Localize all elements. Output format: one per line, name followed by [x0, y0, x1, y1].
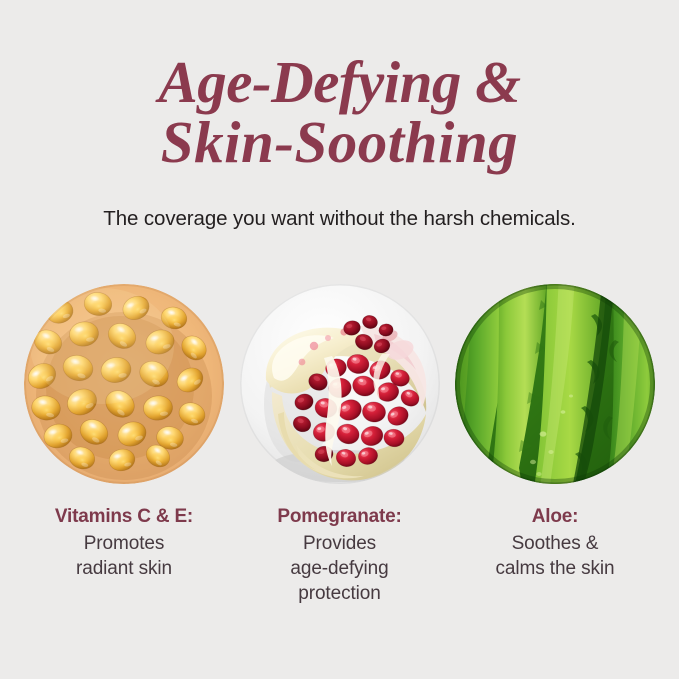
- ingredient-caption: Aloe: Soothes & calms the skin: [448, 505, 663, 581]
- ingredient-description: Soothes & calms the skin: [448, 531, 663, 581]
- ingredient-description-line: age-defying: [232, 556, 447, 581]
- ingredient-description: Provides age-defying protection: [232, 531, 447, 606]
- ingredient-title: Pomegranate:: [232, 505, 447, 529]
- page-title-line-2: Skin-Soothing: [0, 112, 679, 172]
- page-subtitle: The coverage you want without the harsh …: [0, 207, 679, 231]
- promo-panel: Age-Defying & Skin-Soothing The coverage…: [0, 0, 679, 679]
- ingredient-caption: Vitamins C & E: Promotes radiant skin: [17, 505, 232, 581]
- open-pomegranate-photo: [240, 284, 440, 484]
- ingredient-description-line: Provides: [232, 531, 447, 556]
- page-title: Age-Defying & Skin-Soothing: [0, 52, 679, 172]
- vitamin-softgel-capsules-photo: [24, 284, 224, 484]
- page-title-line-1: Age-Defying &: [0, 52, 679, 112]
- ingredient-title: Vitamins C & E:: [17, 505, 232, 529]
- ingredient-list: Vitamins C & E: Promotes radiant skin: [0, 284, 679, 606]
- ingredient-description-line: Promotes: [17, 531, 232, 556]
- ingredient-description-line: calms the skin: [448, 556, 663, 581]
- ingredient-description-line: radiant skin: [17, 556, 232, 581]
- ingredient-description-line: Soothes &: [448, 531, 663, 556]
- ingredient-title: Aloe:: [448, 505, 663, 529]
- ingredient-item-aloe: Aloe: Soothes & calms the skin: [455, 284, 655, 606]
- ingredient-description-line: protection: [232, 581, 447, 606]
- ingredient-item-pomegranate: Pomegranate: Provides age-defying protec…: [240, 284, 440, 606]
- aloe-vera-leaves-photo: [455, 284, 655, 484]
- ingredient-description: Promotes radiant skin: [17, 531, 232, 581]
- ingredient-item-vitamins: Vitamins C & E: Promotes radiant skin: [24, 284, 224, 606]
- ingredient-caption: Pomegranate: Provides age-defying protec…: [232, 505, 447, 606]
